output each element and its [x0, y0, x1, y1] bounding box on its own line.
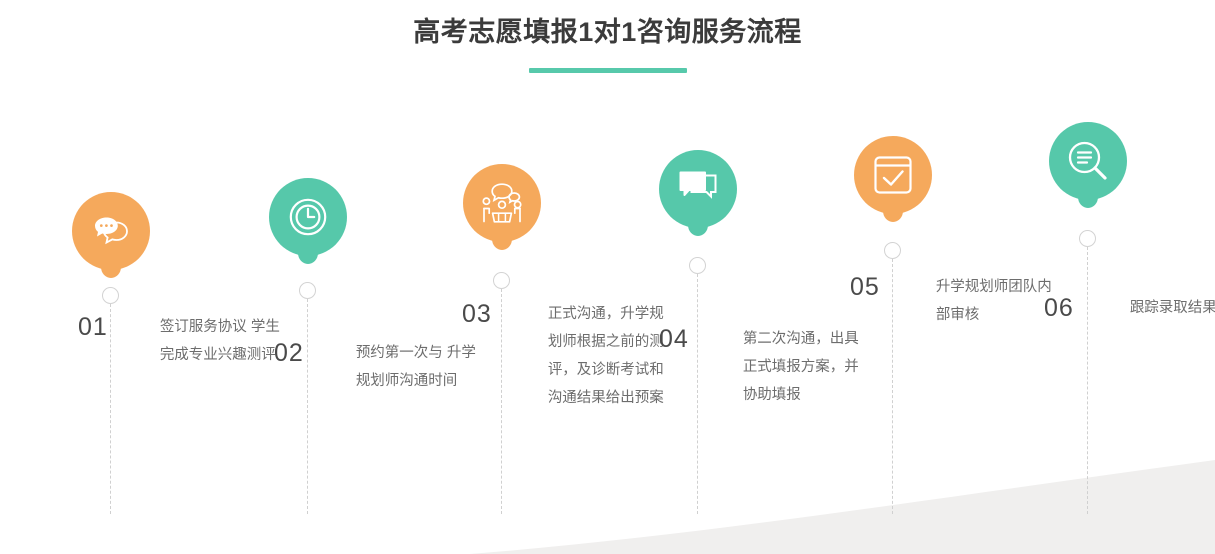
- speech-bubbles-icon: [675, 166, 721, 212]
- pin-tail: [298, 242, 318, 264]
- process-timeline: 01 签订服务协议 学生完成专业兴趣测评 02 预约第一次与 升学规划师沟通时间: [0, 0, 1215, 514]
- pin-tail: [688, 214, 708, 236]
- step-caption-04: 04 第二次沟通，出具正式填报方案，并协助填报: [659, 325, 869, 409]
- chat-bubbles-icon: [88, 208, 134, 254]
- search-document-icon: [1065, 138, 1111, 184]
- title-underline: [529, 68, 687, 73]
- checkbox-window-icon: [870, 152, 916, 198]
- step-text: 第二次沟通，出具正式填报方案，并协助填报: [743, 325, 869, 409]
- step-pin-04[interactable]: [659, 150, 737, 236]
- pin-tail: [883, 200, 903, 222]
- step-pin-02[interactable]: [269, 178, 347, 264]
- step-caption-01: 01 签订服务协议 学生完成专业兴趣测评: [78, 313, 286, 369]
- meeting-icon: [479, 180, 525, 226]
- pin-tail: [492, 228, 512, 250]
- step-node-02: [299, 282, 316, 299]
- step-number: 02: [274, 339, 304, 367]
- step-number: 04: [659, 325, 689, 353]
- step-caption-06: 06 跟踪录取结果: [1044, 294, 1215, 322]
- step-number: 05: [850, 273, 880, 301]
- step-number: 01: [78, 313, 108, 341]
- step-number: 03: [462, 300, 492, 328]
- step-node-05: [884, 242, 901, 259]
- page-title: 高考志愿填报1对1咨询服务流程: [0, 14, 1215, 50]
- step-node-03: [493, 272, 510, 289]
- step-caption-02: 02 预约第一次与 升学规划师沟通时间: [274, 339, 482, 395]
- step-text: 签订服务协议 学生完成专业兴趣测评: [160, 313, 286, 369]
- pin-tail: [101, 256, 121, 278]
- step-caption-03: 03 正式沟通，升学规划师根据之前的测评，及诊断考试和沟通结果给出预案: [462, 300, 674, 412]
- step-pin-05[interactable]: [854, 136, 932, 222]
- step-pin-03[interactable]: [463, 164, 541, 250]
- step-node-01: [102, 287, 119, 304]
- step-text: 升学规划师团队内部审核: [936, 273, 1062, 329]
- step-number: 06: [1044, 294, 1074, 322]
- step-caption-05: 05 升学规划师团队内部审核: [850, 273, 1062, 329]
- step-dashline-02: [307, 299, 308, 514]
- clock-icon: [285, 194, 331, 240]
- pin-tail: [1078, 186, 1098, 208]
- step-node-04: [689, 257, 706, 274]
- step-pin-01[interactable]: [72, 192, 150, 278]
- page-header: 高考志愿填报1对1咨询服务流程: [0, 14, 1215, 73]
- step-dashline-06: [1087, 247, 1088, 514]
- step-text: 正式沟通，升学规划师根据之前的测评，及诊断考试和沟通结果给出预案: [548, 300, 674, 412]
- step-node-06: [1079, 230, 1096, 247]
- step-text: 跟踪录取结果: [1130, 294, 1215, 322]
- step-pin-06[interactable]: [1049, 122, 1127, 208]
